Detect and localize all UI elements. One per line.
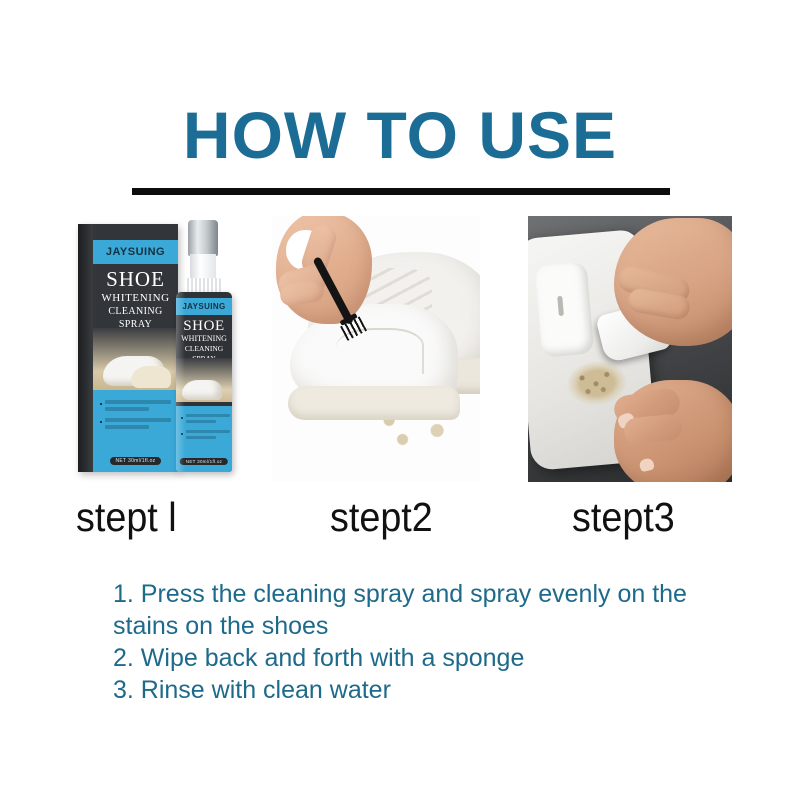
carton-title-line-1: SHOE [93, 268, 178, 291]
step-label-1: stept l [76, 492, 177, 542]
carton-bullet-2 [100, 418, 172, 429]
instruction-line-3: 3. Rinse with clean water [113, 674, 733, 706]
carton-shoe-photo [93, 328, 178, 390]
steps-image-row: JAYSUING SHOE WHITENING CLEANING SPRAY [72, 216, 732, 482]
how-to-use-infographic: HOW TO USE JAYSUING SHOE WHITENING CLEAN… [0, 0, 800, 800]
brushing-scene [272, 216, 480, 482]
hand-holding-brush [276, 216, 372, 324]
carton-net-contents: NET 30ml/1fl.oz [110, 457, 162, 465]
bottle-body: JAYSUING SHOE WHITENING CLEANING SPRAY [176, 292, 232, 472]
step-1-image-product-packaging: JAYSUING SHOE WHITENING CLEANING SPRAY [72, 216, 262, 482]
bottle-overcap [188, 220, 218, 256]
step-3-image-wiping-shoe [528, 216, 732, 482]
hand-lower [614, 380, 732, 482]
step-labels-row: stept l stept2 stept3 [72, 492, 732, 544]
product-scene: JAYSUING SHOE WHITENING CLEANING SPRAY [72, 216, 262, 482]
step-2-image-brushing-sneakers [272, 216, 480, 482]
hand-lower-finger-2 [623, 413, 683, 445]
product-carton: JAYSUING SHOE WHITENING CLEANING SPRAY [78, 224, 178, 472]
shoe-tongue [534, 262, 594, 358]
bottle-shoe-illustration [182, 380, 222, 400]
carton-front-face: JAYSUING SHOE WHITENING CLEANING SPRAY [93, 224, 178, 472]
carton-brand-name: JAYSUING [93, 240, 178, 264]
bottle-bullet-2 [181, 430, 227, 439]
instructions-list: 1. Press the cleaning spray and spray ev… [113, 578, 733, 706]
bottle-bullet-1 [181, 414, 227, 423]
step-label-2: stept2 [330, 492, 433, 542]
carton-feature-bullets [100, 400, 172, 436]
sneaker-front-sole [288, 386, 460, 420]
instruction-line-2: 2. Wipe back and forth with a sponge [113, 642, 733, 674]
instruction-line-1: 1. Press the cleaning spray and spray ev… [113, 578, 733, 642]
wiping-scene [528, 216, 732, 482]
title-underline-rule [132, 188, 670, 195]
page-title: HOW TO USE [0, 96, 800, 174]
carton-lower-panel: NET 30ml/1fl.oz [93, 390, 178, 472]
carton-title-line-2: WHITENING [93, 291, 178, 305]
carton-product-title: SHOE WHITENING CLEANING SPRAY [93, 268, 178, 331]
step-label-3: stept3 [572, 492, 675, 542]
spray-bottle: JAYSUING SHOE WHITENING CLEANING SPRAY [168, 220, 240, 472]
carton-side-face [78, 224, 93, 472]
shoe-stain-texture [572, 365, 623, 401]
fingernail-2 [638, 457, 654, 472]
carton-brand-band: JAYSUING [93, 240, 178, 264]
bottle-net-contents: NET 30ml/1fl.oz [180, 458, 228, 465]
bottle-highlight [176, 292, 185, 472]
bottle-feature-bullets [181, 414, 227, 446]
shoe-illustration-right [131, 366, 171, 388]
carton-bullet-1 [100, 400, 172, 411]
bottle-pump-neck [190, 254, 216, 280]
